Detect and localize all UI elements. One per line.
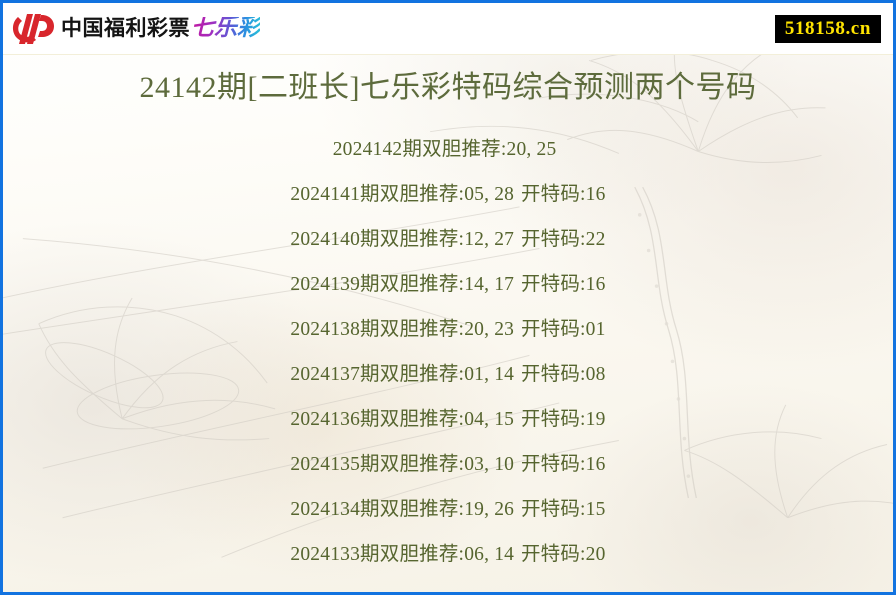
list-item: 2024141期双胆推荐:05, 28开特码:16	[23, 172, 873, 217]
list-item: 2024142期双胆推荐:20, 25	[23, 127, 873, 172]
result-value: 22	[586, 229, 606, 250]
list-item: 2024139期双胆推荐:14, 17开特码:16	[23, 262, 873, 307]
picks-value: 05, 28	[464, 184, 514, 205]
picks-value: 19, 26	[464, 499, 514, 520]
picks-value: 20, 25	[507, 139, 557, 160]
result-value: 20	[586, 544, 606, 565]
list-item: 2024140期双胆推荐:12, 27开特码:22	[23, 217, 873, 262]
page-frame: 中国福利彩票 七乐彩 518158.cn 24142期[二班长]七乐彩特码综合预…	[0, 0, 896, 595]
issue-label: 2024140期双胆推荐:	[290, 229, 464, 250]
result-label: 开特码:	[521, 544, 586, 565]
result-label: 开特码:	[521, 409, 586, 430]
picks-value: 12, 27	[464, 229, 514, 250]
brand-name: 中国福利彩票 七乐彩	[61, 17, 260, 40]
result-label: 开特码:	[521, 364, 586, 385]
issue-label: 2024142期双胆推荐:	[333, 139, 507, 160]
list-item: 2024133期双胆推荐:06, 14开特码:20	[23, 532, 873, 577]
picks-value: 06, 14	[464, 544, 514, 565]
list-item: 2024136期双胆推荐:04, 15开特码:19	[23, 397, 873, 442]
brand-lockup[interactable]: 中国福利彩票 七乐彩	[11, 11, 260, 47]
picks-value: 04, 15	[464, 409, 514, 430]
list-item: 2024138期双胆推荐:20, 23开特码:01	[23, 307, 873, 352]
picks-value: 14, 17	[464, 274, 514, 295]
issue-label: 2024134期双胆推荐:	[290, 499, 464, 520]
issue-label: 2024135期双胆推荐:	[290, 454, 464, 475]
result-value: 16	[586, 184, 606, 205]
issue-label: 2024141期双胆推荐:	[290, 184, 464, 205]
page-title: 24142期[二班长]七乐彩特码综合预测两个号码	[3, 71, 893, 105]
china-welfare-lottery-logo-icon	[11, 11, 55, 47]
result-label: 开特码:	[521, 229, 586, 250]
issue-label: 2024137期双胆推荐:	[290, 364, 464, 385]
result-label: 开特码:	[521, 319, 586, 340]
result-value: 08	[586, 364, 606, 385]
issue-label: 2024136期双胆推荐:	[290, 409, 464, 430]
site-url-badge: 518158.cn	[775, 15, 881, 43]
brand-name-text: 中国福利彩票	[61, 18, 190, 39]
result-value: 19	[586, 409, 606, 430]
issue-label: 2024138期双胆推荐:	[290, 319, 464, 340]
issue-label: 2024139期双胆推荐:	[290, 274, 464, 295]
issue-label: 2024133期双胆推荐:	[290, 544, 464, 565]
result-value: 16	[586, 274, 606, 295]
site-header: 中国福利彩票 七乐彩 518158.cn	[3, 3, 893, 55]
result-label: 开特码:	[521, 499, 586, 520]
picks-value: 01, 14	[464, 364, 514, 385]
prediction-list: 2024142期双胆推荐:20, 25 2024141期双胆推荐:05, 28开…	[3, 127, 893, 577]
list-item: 2024135期双胆推荐:03, 10开特码:16	[23, 442, 873, 487]
brand-product-name: 七乐彩	[191, 17, 260, 40]
result-value: 15	[586, 499, 606, 520]
result-label: 开特码:	[521, 274, 586, 295]
picks-value: 20, 23	[464, 319, 514, 340]
result-label: 开特码:	[521, 184, 586, 205]
list-item: 2024137期双胆推荐:01, 14开特码:08	[23, 352, 873, 397]
result-label: 开特码:	[521, 454, 586, 475]
result-value: 01	[586, 319, 606, 340]
picks-value: 03, 10	[464, 454, 514, 475]
result-value: 16	[586, 454, 606, 475]
list-item: 2024134期双胆推荐:19, 26开特码:15	[23, 487, 873, 532]
